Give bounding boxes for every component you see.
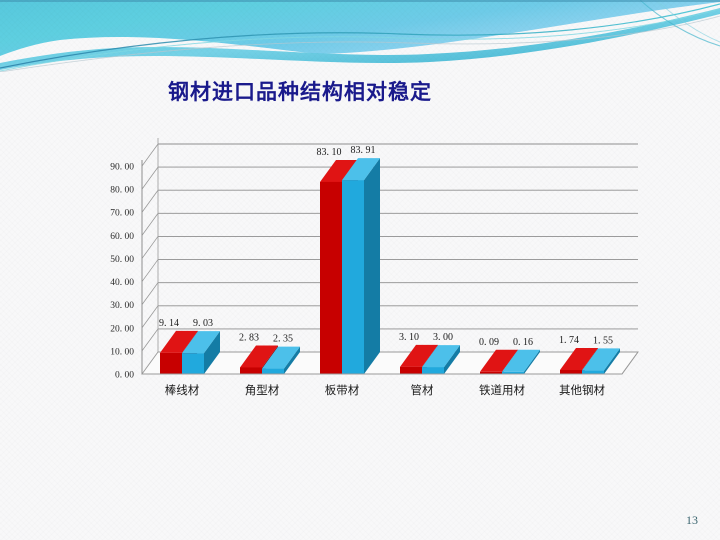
bar-value-label: 1. 55: [593, 335, 613, 346]
bar-value-label: 9. 14: [159, 318, 179, 329]
x-axis-category-label: 板带材: [325, 383, 360, 397]
bar-value-label: 0. 09: [479, 337, 499, 348]
bar-value-label: 0. 16: [513, 337, 533, 348]
grid-connector: [142, 260, 158, 282]
bar-chart: 0. 0010. 0020. 0030. 0040. 0050. 0060. 0…: [0, 130, 720, 400]
grid-connector: [142, 144, 158, 166]
y-axis-tick-label: 0. 00: [115, 371, 134, 381]
y-axis-tick-label: 70. 00: [110, 209, 134, 219]
y-axis-tick-label: 10. 00: [110, 347, 134, 357]
bar-value-label: 1. 74: [559, 335, 579, 346]
header-wave-decoration: [0, 0, 720, 72]
x-axis-category-label: 管材: [411, 383, 434, 397]
grid-connector: [142, 306, 158, 328]
bar-value-label: 3. 10: [399, 332, 419, 343]
y-axis-tick-label: 40. 00: [110, 278, 134, 288]
bar-value-label: 2. 83: [239, 332, 259, 343]
grid-connector: [142, 167, 158, 189]
grid-connector: [142, 329, 158, 351]
grid-connector: [142, 283, 158, 305]
grid-connector: [142, 213, 158, 235]
page-title: 钢材进口品种结构相对稳定: [168, 76, 432, 106]
bar-value-label: 83. 10: [317, 147, 342, 158]
grid-connector: [142, 236, 158, 258]
y-axis-tick-label: 90. 00: [110, 163, 134, 173]
x-axis-category-label: 棒线材: [165, 383, 200, 397]
y-axis-tick-label: 60. 00: [110, 232, 134, 242]
bar-value-label: 3. 00: [433, 332, 453, 343]
x-axis-category-label: 其他钢材: [559, 383, 605, 397]
x-axis-category-label: 角型材: [245, 383, 280, 397]
y-axis-tick-label: 50. 00: [110, 255, 134, 265]
bar-value-label: 9. 03: [193, 318, 213, 329]
x-axis-category-label: 铁道用材: [479, 383, 525, 397]
page-number: 13: [686, 513, 698, 528]
slide: 钢材进口品种结构相对稳定 0. 0010. 0020. 0030. 0040. …: [0, 0, 720, 540]
y-axis-tick-label: 20. 00: [110, 324, 134, 334]
bar-series-2: [342, 158, 380, 374]
bar-value-label: 2. 35: [273, 334, 293, 345]
grid-connector: [142, 190, 158, 212]
y-axis-tick-label: 80. 00: [110, 186, 134, 196]
bar-value-label: 83. 91: [351, 145, 376, 156]
y-axis-tick-label: 30. 00: [110, 301, 134, 311]
